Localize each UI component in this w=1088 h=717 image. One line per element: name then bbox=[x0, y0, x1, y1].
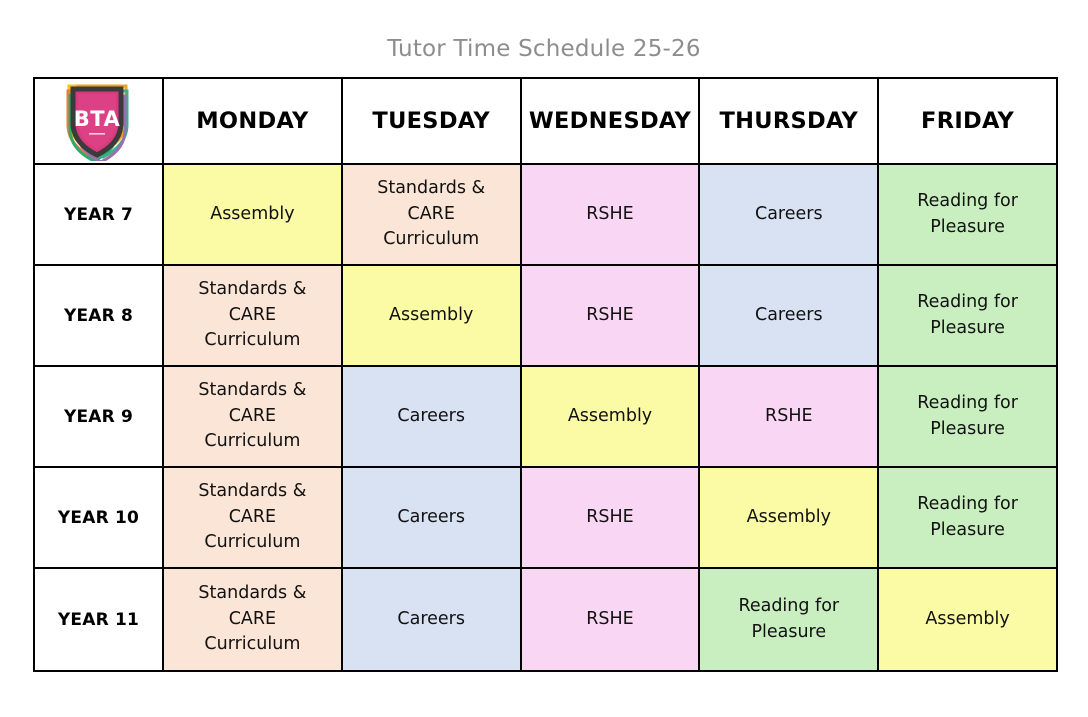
schedule-cell: Standards &CARECurriculum bbox=[163, 265, 342, 366]
schedule-cell-text: Curriculum bbox=[164, 328, 341, 354]
shield-icon: BTA bbox=[63, 81, 135, 161]
table-row: YEAR 11Standards &CARECurriculumCareersR… bbox=[34, 568, 1057, 671]
schedule-cell: RSHE bbox=[521, 467, 700, 568]
schedule-cell: Assembly bbox=[699, 467, 878, 568]
schedule-cell-text: Reading for bbox=[879, 189, 1056, 215]
schedule-cell: RSHE bbox=[699, 366, 878, 467]
schedule-cell-text: Reading for bbox=[879, 290, 1056, 316]
schedule-cell-text: Assembly bbox=[879, 607, 1056, 633]
tutor-time-schedule-table: BTA MONDAY TUESDAY WEDNESDAY THURSDAY FR… bbox=[33, 77, 1058, 672]
schedule-cell-text: Careers bbox=[700, 303, 877, 329]
schedule-cell: Reading forPleasure bbox=[878, 164, 1057, 265]
schedule-cell: RSHE bbox=[521, 568, 700, 671]
schedule-cell-text: Reading for bbox=[700, 594, 877, 620]
schedule-cell-text: Pleasure bbox=[879, 215, 1056, 241]
schedule-cell: Assembly bbox=[342, 265, 521, 366]
schedule-cell: Assembly bbox=[878, 568, 1057, 671]
schedule-cell-text: RSHE bbox=[522, 505, 699, 531]
schedule-cell: Reading forPleasure bbox=[878, 366, 1057, 467]
schedule-cell: RSHE bbox=[521, 265, 700, 366]
schedule-cell-text: Careers bbox=[343, 404, 520, 430]
schedule-cell-text: Pleasure bbox=[879, 518, 1056, 544]
table-row: YEAR 10Standards &CARECurriculumCareersR… bbox=[34, 467, 1057, 568]
table-header-row: BTA MONDAY TUESDAY WEDNESDAY THURSDAY FR… bbox=[34, 78, 1057, 164]
schedule-body: YEAR 7AssemblyStandards &CARECurriculumR… bbox=[34, 164, 1057, 671]
schedule-cell-text: Curriculum bbox=[343, 227, 520, 253]
schedule-cell-text: Pleasure bbox=[879, 316, 1056, 342]
schedule-cell: Standards &CARECurriculum bbox=[163, 366, 342, 467]
schedule-cell-text: Standards & bbox=[164, 378, 341, 404]
schedule-cell-text: Standards & bbox=[164, 479, 341, 505]
schedule-cell: Reading forPleasure bbox=[699, 568, 878, 671]
year-group-label: YEAR 7 bbox=[34, 164, 163, 265]
column-header-wednesday: WEDNESDAY bbox=[521, 78, 700, 164]
schedule-cell-text: CARE bbox=[164, 505, 341, 531]
schedule-cell: Standards &CARECurriculum bbox=[163, 467, 342, 568]
schedule-cell-text: Reading for bbox=[879, 492, 1056, 518]
schedule-cell: Standards &CARECurriculum bbox=[163, 568, 342, 671]
schedule-cell-text: Assembly bbox=[522, 404, 699, 430]
year-group-label: YEAR 9 bbox=[34, 366, 163, 467]
schedule-cell-text: Reading for bbox=[879, 391, 1056, 417]
table-row: YEAR 8Standards &CARECurriculumAssemblyR… bbox=[34, 265, 1057, 366]
schedule-cell: Careers bbox=[342, 467, 521, 568]
schedule-cell-text: Assembly bbox=[164, 202, 341, 228]
schedule-cell: Careers bbox=[699, 265, 878, 366]
page-title: Tutor Time Schedule 25-26 bbox=[0, 36, 1088, 62]
school-logo-cell: BTA bbox=[34, 78, 163, 164]
schedule-cell-text: CARE bbox=[164, 303, 341, 329]
schedule-cell-text: CARE bbox=[343, 202, 520, 228]
table-row: YEAR 9Standards &CARECurriculumCareersAs… bbox=[34, 366, 1057, 467]
svg-text:BTA: BTA bbox=[73, 107, 120, 131]
schedule-cell-text: RSHE bbox=[700, 404, 877, 430]
schedule-cell: Standards &CARECurriculum bbox=[342, 164, 521, 265]
schedule-cell-text: Careers bbox=[343, 607, 520, 633]
schedule-cell-text: Pleasure bbox=[879, 417, 1056, 443]
schedule-cell-text: CARE bbox=[164, 607, 341, 633]
schedule-cell-text: Assembly bbox=[343, 303, 520, 329]
schedule-cell-text: Standards & bbox=[343, 176, 520, 202]
schedule-cell-text: Careers bbox=[343, 505, 520, 531]
column-header-friday: FRIDAY bbox=[878, 78, 1057, 164]
schedule-cell: Careers bbox=[699, 164, 878, 265]
schedule-cell-text: CARE bbox=[164, 404, 341, 430]
schedule-cell-text: Curriculum bbox=[164, 429, 341, 455]
schedule-cell: Reading forPleasure bbox=[878, 467, 1057, 568]
schedule-cell-text: RSHE bbox=[522, 202, 699, 228]
schedule-cell-text: Pleasure bbox=[700, 620, 877, 646]
schedule-cell: Careers bbox=[342, 366, 521, 467]
column-header-monday: MONDAY bbox=[163, 78, 342, 164]
year-group-label: YEAR 10 bbox=[34, 467, 163, 568]
schedule-cell: Assembly bbox=[163, 164, 342, 265]
bta-shield-logo: BTA bbox=[35, 79, 162, 163]
schedule-cell-text: Assembly bbox=[700, 505, 877, 531]
schedule-cell-text: Standards & bbox=[164, 581, 341, 607]
year-group-label: YEAR 11 bbox=[34, 568, 163, 671]
schedule-cell: Reading forPleasure bbox=[878, 265, 1057, 366]
schedule-cell-text: Curriculum bbox=[164, 632, 341, 658]
schedule-cell-text: Curriculum bbox=[164, 530, 341, 556]
schedule-cell: RSHE bbox=[521, 164, 700, 265]
schedule-cell: Careers bbox=[342, 568, 521, 671]
table-row: YEAR 7AssemblyStandards &CARECurriculumR… bbox=[34, 164, 1057, 265]
column-header-thursday: THURSDAY bbox=[699, 78, 878, 164]
schedule-cell: Assembly bbox=[521, 366, 700, 467]
year-group-label: YEAR 8 bbox=[34, 265, 163, 366]
schedule-cell-text: Careers bbox=[700, 202, 877, 228]
schedule-cell-text: RSHE bbox=[522, 303, 699, 329]
schedule-cell-text: RSHE bbox=[522, 607, 699, 633]
schedule-cell-text: Standards & bbox=[164, 277, 341, 303]
schedule-page: Tutor Time Schedule 25-26 bbox=[0, 0, 1088, 717]
column-header-tuesday: TUESDAY bbox=[342, 78, 521, 164]
